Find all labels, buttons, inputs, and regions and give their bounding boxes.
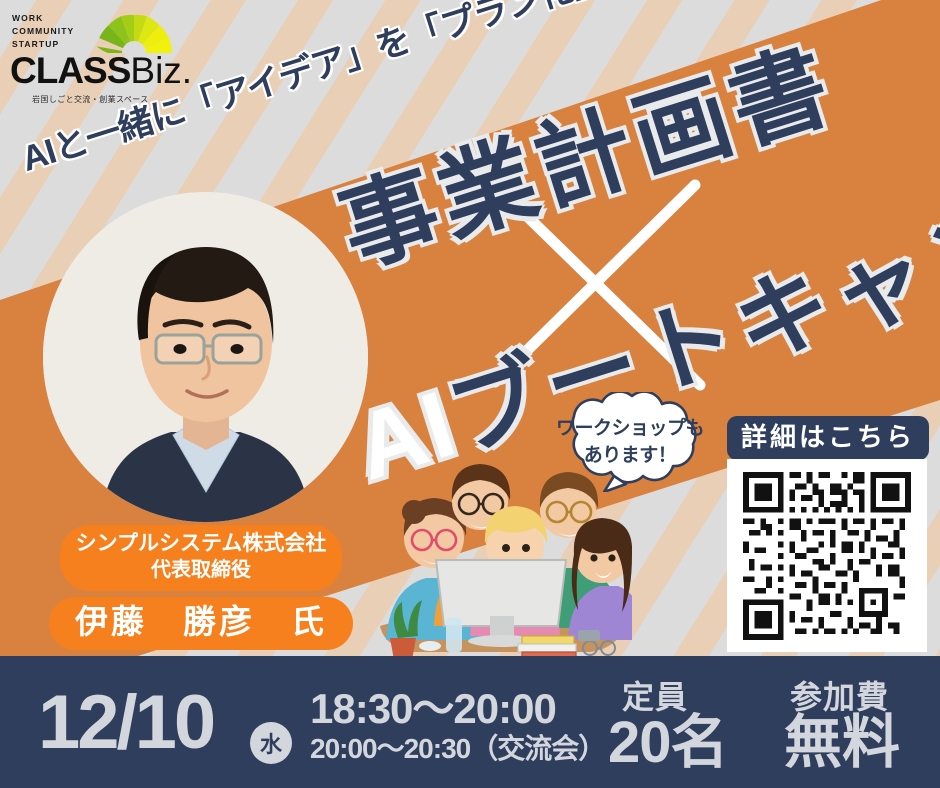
fee-value: 無料 — [784, 712, 900, 774]
classbiz-logo: WORK COMMUNITY STARTUP CLASSBiz. 岩 — [8, 8, 183, 108]
logo-kicker: WORK COMMUNITY STARTUP — [12, 12, 74, 51]
bubble-line-2: あります！ — [584, 442, 677, 469]
speaker-info: シンプルシステム株式会社 代表取締役 伊藤 勝彦 氏 — [26, 525, 376, 650]
capacity-value: 20名 — [608, 712, 728, 774]
workshop-bubble-text: ワークショップも あります！ — [540, 392, 720, 492]
bubble-line-1: ワークショップも — [556, 415, 704, 442]
logo-wordmark: CLASSBiz. — [10, 52, 192, 90]
speaker-role: 代表取締役 — [76, 557, 327, 583]
workshop-speech-bubble: ワークショップも あります！ — [540, 392, 720, 492]
qr-code[interactable] — [727, 459, 927, 652]
details-here-badge[interactable]: 詳細はこちら — [727, 416, 929, 460]
event-day-of-week: 水 — [250, 722, 292, 764]
logo-wordmark-class: CLASS — [10, 50, 130, 91]
logo-wordmark-biz: Biz. — [130, 50, 192, 91]
capacity-label: 定員 — [622, 680, 688, 714]
speaker-photo — [43, 192, 368, 522]
fee-label: 参加費 — [790, 680, 889, 714]
logo-tagline: 岩国しごと交流・創業スペース — [32, 94, 149, 105]
event-time-main: 18:30〜20:00 — [310, 687, 556, 731]
logo-kicker-line-1: COMMUNITY — [12, 25, 74, 38]
speaker-name-pill: 伊藤 勝彦 氏 — [49, 597, 353, 650]
event-time-sub: 20:00〜20:30（交流会） — [310, 734, 605, 764]
speaker-company: シンプルシステム株式会社 — [76, 532, 327, 555]
event-poster: WORK COMMUNITY STARTUP CLASSBiz. 岩 — [0, 0, 940, 788]
cross-symbol-icon — [470, 170, 720, 400]
speaker-company-role-pill: シンプルシステム株式会社 代表取締役 — [60, 525, 343, 591]
footer-content: 12/10 水 18:30〜20:00 20:00〜20:30（交流会） 定員 … — [0, 656, 940, 788]
logo-kicker-line-0: WORK — [12, 12, 74, 25]
event-date: 12/10 — [38, 684, 213, 762]
